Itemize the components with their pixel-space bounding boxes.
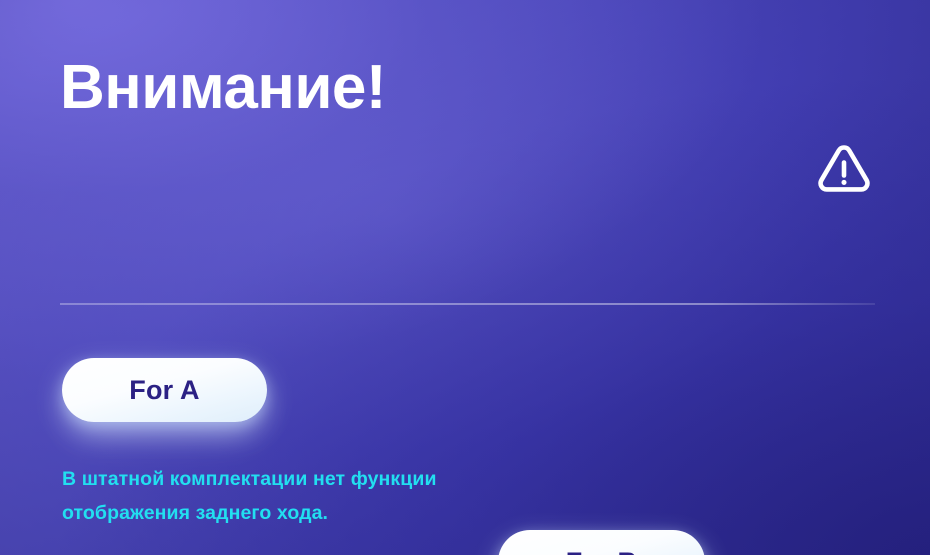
for-a-button-label: For A (129, 375, 200, 406)
warning-slide: Внимание! For A В штатной комплектации н… (0, 0, 930, 555)
header-divider (60, 303, 875, 305)
page-title: Внимание! (60, 52, 930, 124)
column-for-a: For A В штатной комплектации нет функции… (62, 358, 462, 530)
for-a-button[interactable]: For A (62, 358, 267, 422)
warning-triangle-icon (814, 138, 874, 198)
column-for-b: For B В штатной комплектации есть функци… (498, 530, 898, 555)
for-a-description: В штатной комплектации нет функции отобр… (62, 462, 462, 530)
for-b-button-label: For B (566, 547, 638, 555)
for-b-button[interactable]: For B (498, 530, 705, 555)
